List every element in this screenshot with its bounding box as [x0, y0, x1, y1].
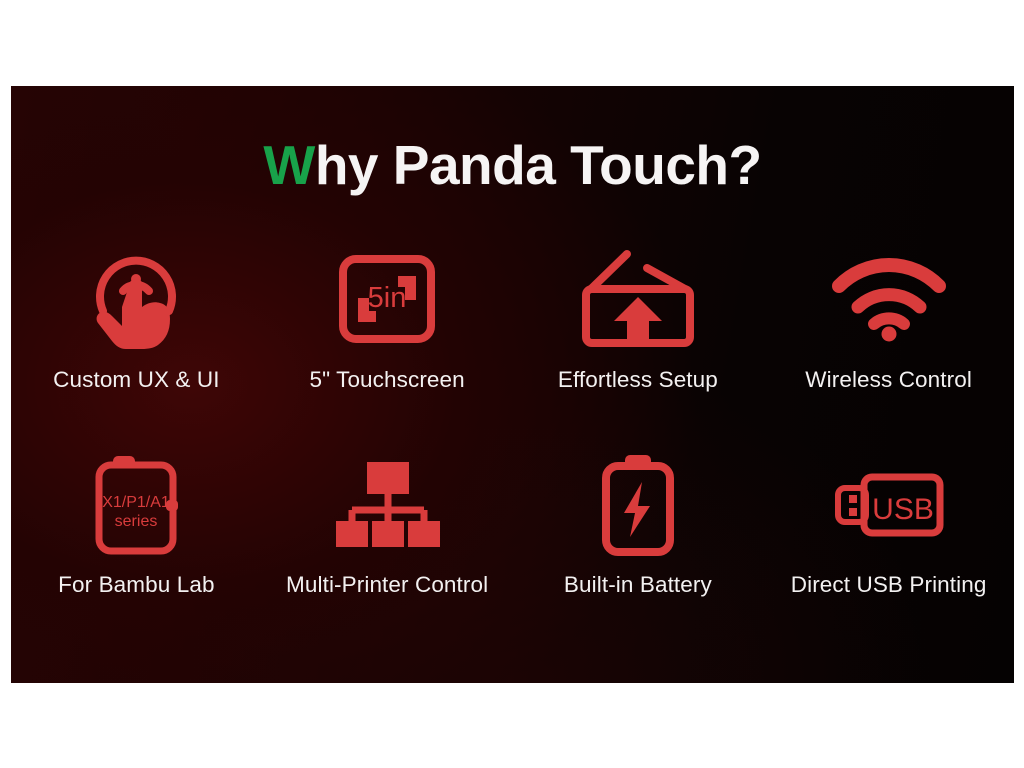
screen-size-text: 5in: [368, 282, 407, 314]
touch-hand-icon: [90, 238, 182, 360]
feature-slide: Why Panda Touch? Custom UX & UI: [11, 86, 1014, 683]
feature-item-custom-ux-ui: Custom UX & UI: [11, 238, 262, 443]
feature-item-usb: USB Direct USB Printing: [763, 443, 1014, 648]
feature-label: Built-in Battery: [564, 572, 712, 598]
feature-label: Wireless Control: [805, 367, 972, 393]
printer-icon: X1/P1/A1 series: [88, 443, 184, 565]
battery-bolt-icon: [600, 443, 676, 565]
feature-label: For Bambu Lab: [58, 572, 214, 598]
screen-size-icon: 5in: [338, 238, 436, 360]
printer-model-line2: series: [115, 513, 158, 530]
usb-drive-icon: USB: [834, 443, 944, 565]
usb-label-text: USB: [872, 493, 934, 526]
printer-model-line1: X1/P1/A1: [103, 494, 171, 511]
feature-item-wireless: Wireless Control: [763, 238, 1014, 443]
feature-item-setup: Effortless Setup: [513, 238, 764, 443]
feature-label: Effortless Setup: [558, 367, 718, 393]
feature-label: Custom UX & UI: [53, 367, 219, 393]
feature-item-multi-printer: Multi-Printer Control: [262, 443, 513, 648]
page-title: Why Panda Touch?: [11, 133, 1014, 197]
wifi-icon: [833, 238, 945, 360]
title-rest: hy Panda Touch?: [315, 134, 762, 196]
feature-item-battery: Built-in Battery: [513, 443, 764, 648]
feature-label: 5" Touchscreen: [309, 367, 464, 393]
feature-item-touchscreen: 5in 5" Touchscreen: [262, 238, 513, 443]
feature-item-bambu-lab: X1/P1/A1 series For Bambu Lab: [11, 443, 262, 648]
network-hierarchy-icon: [334, 443, 440, 565]
feature-grid: Custom UX & UI 5in 5" Touchscreen: [11, 238, 1014, 648]
feature-label: Multi-Printer Control: [286, 572, 488, 598]
feature-label: Direct USB Printing: [791, 572, 987, 598]
open-box-arrow-up-icon: [577, 238, 699, 360]
title-accent-letter: W: [263, 134, 314, 196]
